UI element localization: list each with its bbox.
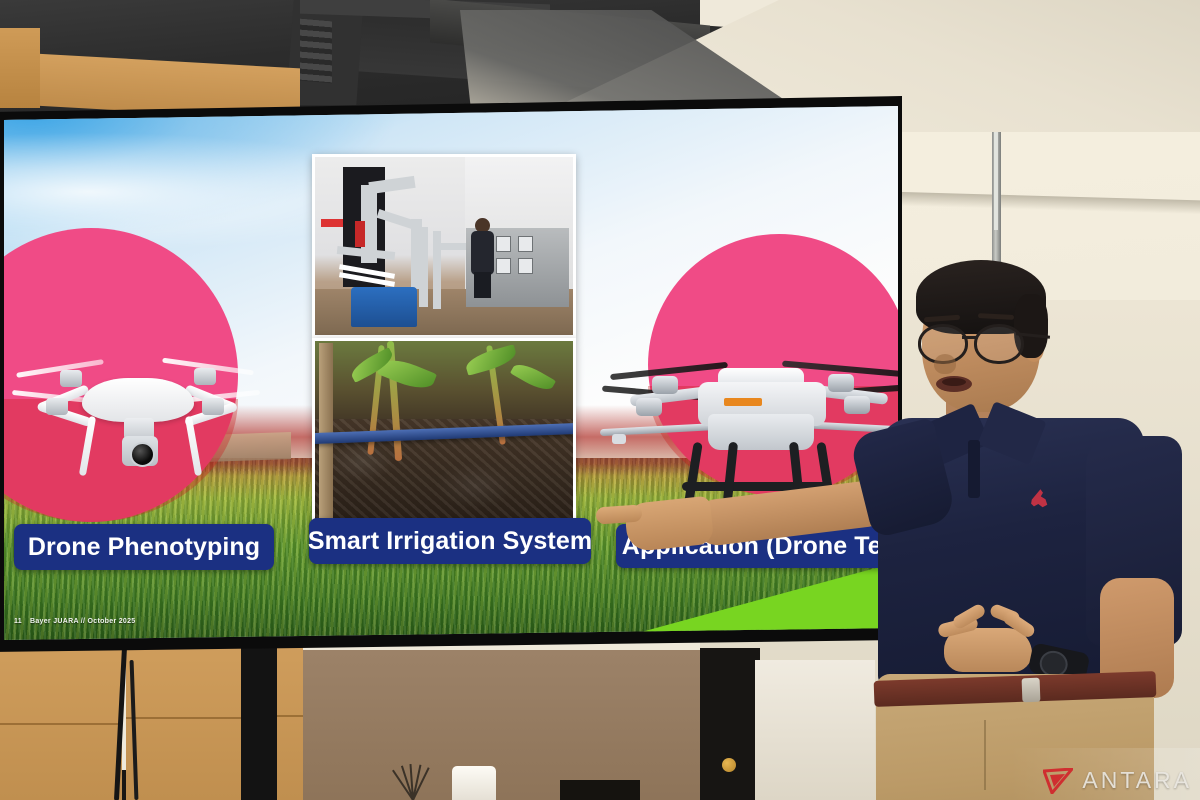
antara-logo-icon	[1043, 768, 1073, 794]
cabinet-panel-3	[277, 645, 303, 800]
antara-watermark: ANTARA	[1043, 767, 1192, 794]
credenza-dark-panel	[700, 648, 760, 800]
reed-sticks	[352, 760, 472, 800]
label-smart-irrigation-text: Smart Irrigation System	[308, 527, 592, 556]
label-drone-phenotyping-text: Drone Phenotyping	[28, 533, 260, 562]
photo-irrigation-pump-room	[312, 154, 576, 338]
slide-footer: 11 Bayer JUARA // October 2025	[30, 618, 136, 625]
presenter-glasses	[918, 324, 1046, 358]
presenter-pointing-hand	[624, 496, 715, 553]
screenshot-root: Drone Phenotyping Smart Irrigation Syste…	[0, 0, 1200, 800]
presenter-mouth-inner	[942, 378, 966, 386]
presenter-open-hand	[936, 602, 1040, 674]
presenter-polo-placket	[968, 440, 980, 498]
slide-page-number: 11	[14, 618, 22, 625]
photo-drip-irrigation	[312, 338, 576, 530]
antara-watermark-text: ANTARA	[1082, 767, 1192, 794]
presentation-screen[interactable]: Drone Phenotyping Smart Irrigation Syste…	[4, 106, 902, 640]
wood-panel-upper-edge	[0, 28, 40, 108]
presenter	[818, 250, 1200, 800]
presenter-trouser-pocket	[900, 720, 986, 790]
label-smart-irrigation: Smart Irrigation System	[309, 518, 591, 564]
slide-footer-text: Bayer JUARA // October 2025	[30, 618, 136, 625]
drip-irrigation-illustration	[315, 341, 573, 527]
presenter-index-finger	[595, 504, 642, 524]
presenter-nose	[934, 354, 956, 374]
label-drone-phenotyping: Drone Phenotyping	[14, 524, 274, 570]
pump-room-illustration	[315, 157, 573, 335]
cabinet-knob[interactable]	[722, 758, 736, 772]
cabinet-panel-1	[0, 645, 122, 800]
cabinet-gap	[241, 645, 277, 800]
quadcopter-drone-graphic	[12, 332, 262, 472]
cabinet-panel-2	[126, 645, 241, 800]
ceiling-vent-icon	[300, 19, 332, 84]
presenter-belt-buckle	[1022, 678, 1041, 703]
table-object-dark	[560, 780, 640, 800]
technician-figure	[470, 218, 496, 296]
slide-canvas: Drone Phenotyping Smart Irrigation Syste…	[4, 106, 902, 640]
